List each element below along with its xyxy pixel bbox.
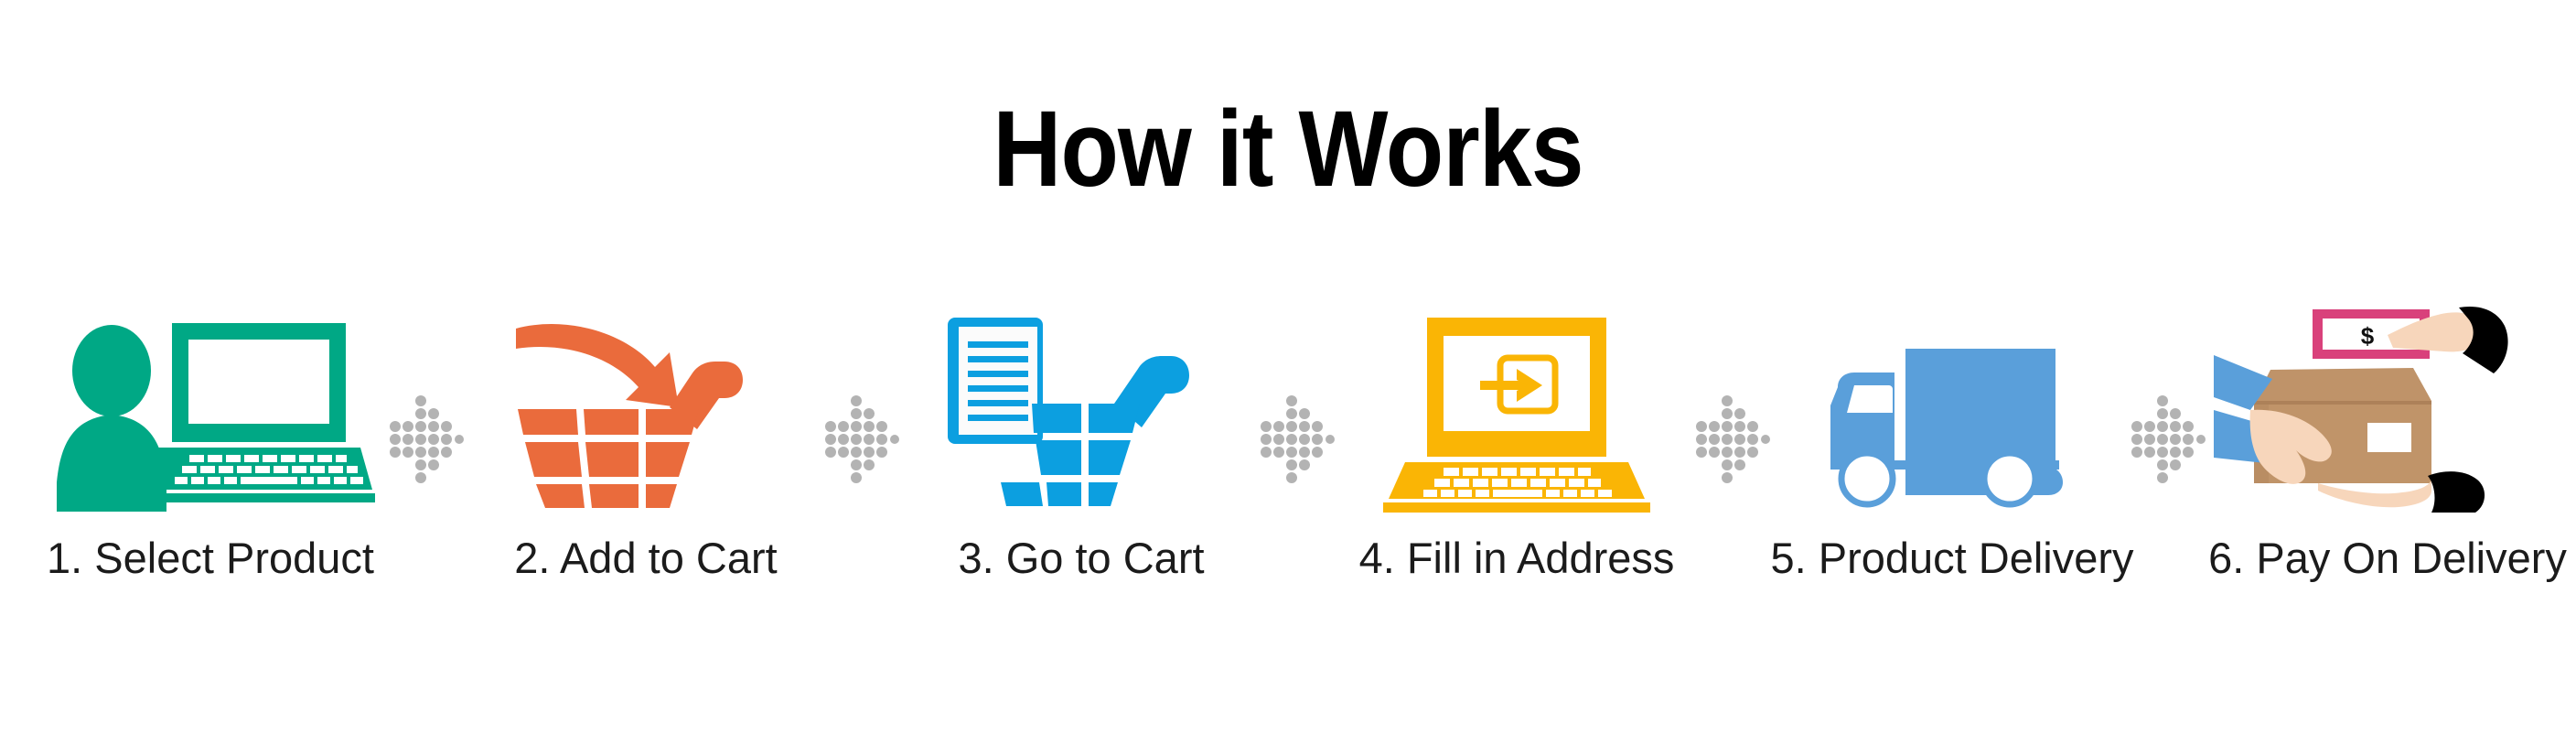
step-5-icon-area: [1778, 302, 2126, 513]
hands-box-money-icon: $: [2214, 302, 2561, 513]
step-2-icon-area: [472, 302, 820, 513]
laptop-login-icon: [1379, 316, 1654, 513]
step-3-icon-area: [907, 302, 1255, 513]
dotted-arrow-right-icon: [1255, 390, 1343, 478]
step-4-icon-area: [1343, 302, 1690, 513]
step-6-pay-on-delivery[interactable]: $: [2214, 302, 2561, 668]
step-6-icon-area: $: [2214, 302, 2561, 513]
step-6-label: 6. Pay On Delivery: [2208, 534, 2567, 582]
separator-3: [1255, 390, 1343, 600]
page-title: How it Works: [155, 95, 2421, 203]
step-2-add-to-cart[interactable]: 2. Add to Cart: [472, 302, 820, 668]
dotted-arrow-right-icon: [1690, 390, 1778, 478]
step-4-fill-in-address[interactable]: 4. Fill in Address: [1343, 302, 1690, 668]
steps-row: 1. Select Product: [37, 302, 2539, 686]
arrow-into-cart-icon: [509, 316, 783, 513]
step-5-label: 5. Product Delivery: [1770, 534, 2133, 582]
step-4-label: 4. Fill in Address: [1359, 534, 1675, 582]
step-5-product-delivery[interactable]: 5. Product Delivery: [1778, 302, 2126, 668]
separator-1: [384, 390, 472, 600]
step-3-label: 3. Go to Cart: [958, 534, 1204, 582]
separator-5: [2126, 390, 2214, 600]
step-1-label: 1. Select Product: [47, 534, 374, 582]
step-2-label: 2. Add to Cart: [514, 534, 777, 582]
step-3-go-to-cart[interactable]: 3. Go to Cart: [907, 302, 1255, 668]
step-1-select-product[interactable]: 1. Select Product: [37, 302, 384, 668]
dotted-arrow-right-icon: [2126, 390, 2214, 478]
dotted-arrow-right-icon: [384, 390, 472, 478]
step-1-icon-area: [37, 302, 384, 513]
infographic-page: How it Works: [0, 0, 2576, 745]
separator-4: [1690, 390, 1778, 600]
dotted-arrow-right-icon: [820, 390, 907, 478]
person-laptop-icon: [55, 316, 366, 513]
separator-2: [820, 390, 907, 600]
document-cart-icon: [944, 316, 1218, 513]
delivery-truck-icon: [1810, 316, 2094, 513]
svg-text:$: $: [2361, 322, 2375, 350]
